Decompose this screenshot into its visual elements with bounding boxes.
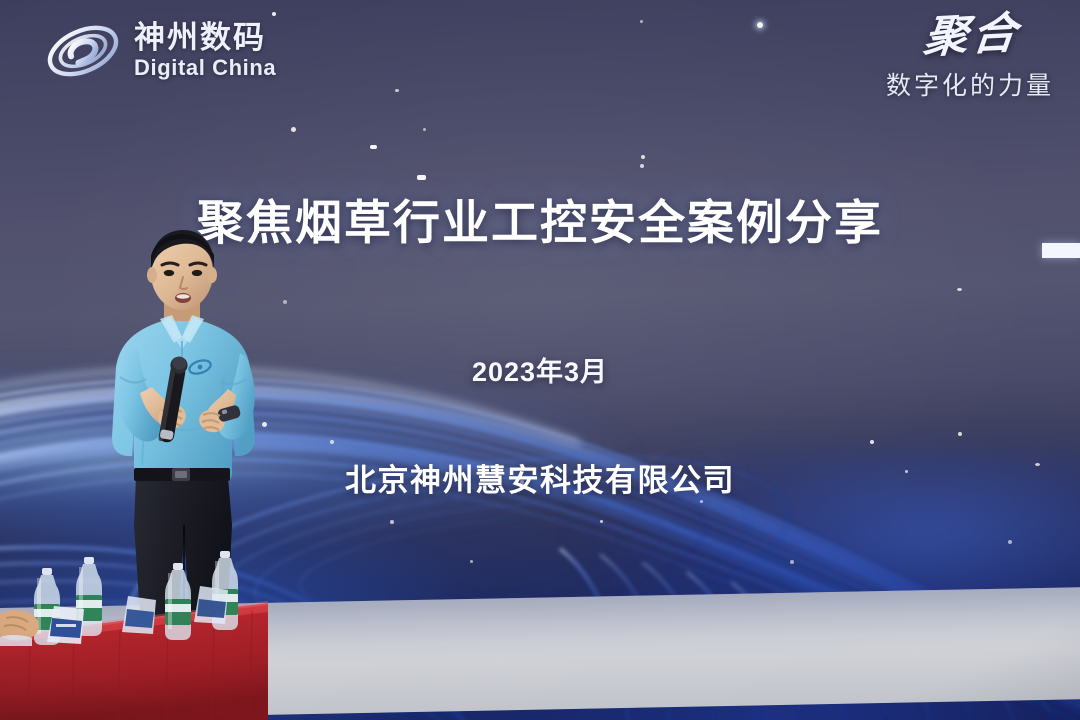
brand-logo-text: 神州数码 Digital China	[134, 22, 276, 79]
conference-stage-photo: 神州数码 Digital China 聚合 数字化的力量 聚焦烟草行业工控安全案…	[0, 0, 1080, 720]
brand-name-cn: 神州数码	[134, 22, 276, 54]
brand-logo: 神州数码 Digital China	[44, 18, 276, 84]
event-subtitle: 数字化的力量	[886, 66, 1054, 102]
brand-name-en: Digital China	[134, 57, 276, 79]
decorative-edge-bar	[1042, 243, 1080, 258]
name-placard	[118, 592, 160, 634]
swirl-galaxy-logo-icon	[44, 18, 122, 84]
audience-member-hand	[0, 600, 58, 646]
event-brand: 聚合 数字化的力量	[886, 14, 1054, 102]
name-placard	[190, 582, 232, 624]
event-calligraphy: 聚合	[883, 10, 1057, 63]
